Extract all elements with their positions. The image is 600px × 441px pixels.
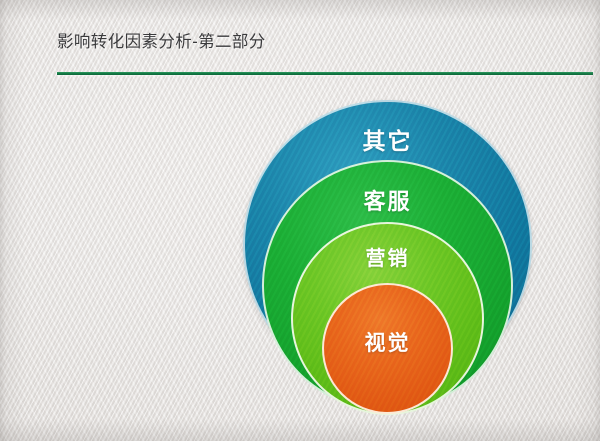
ring-inner-visual[interactable]: 视觉: [322, 283, 453, 414]
slide-canvas: 影响转化因素分析-第二部分 其它 客服 营销 视觉: [0, 0, 600, 441]
ring-label-other: 其它: [245, 122, 530, 156]
ring-label-visual: 视觉: [324, 327, 451, 357]
ring-label-marketing: 营销: [293, 242, 482, 271]
ring-label-customer-service: 客服: [264, 184, 511, 216]
nested-circles-diagram: 其它 客服 营销 视觉: [0, 0, 600, 441]
